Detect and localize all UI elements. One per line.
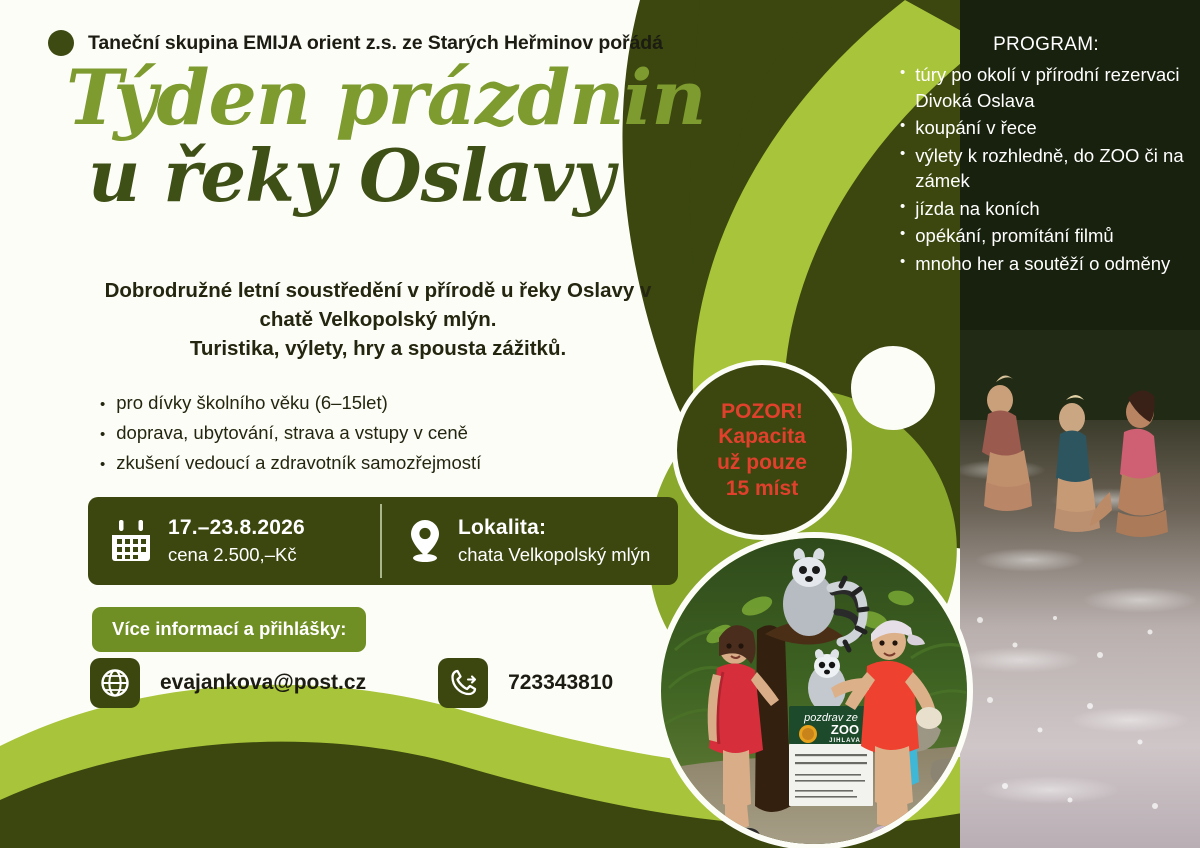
page-title: Týden prázdnin u řeky Oslavy (66, 62, 706, 211)
feature-text: pro dívky školního věku (6–15let) (116, 388, 387, 418)
badge-line-1: POZOR! (721, 399, 803, 425)
badge-line-4: 15 míst (726, 476, 798, 502)
capacity-badge: POZOR! Kapacita už pouze 15 míst (672, 360, 852, 540)
title-line-1: Týden prázdnin (66, 62, 706, 134)
list-item: • jízda na koních (900, 196, 1192, 222)
location-label: Lokalita: (458, 516, 650, 540)
zoo-jihlava-photo: pozdrav ze ZOO JIHLAVA (655, 532, 973, 848)
list-item: • túry po okolí v přírodní rezervaci Div… (900, 62, 1192, 113)
phone-value: 723343810 (508, 671, 613, 695)
list-item: • opékání, promítání filmů (900, 223, 1192, 249)
bullet-icon: • (900, 143, 905, 165)
email-value: evajankova@post.cz (160, 671, 366, 695)
description-line-2: chatě Velkopolský mlýn. (78, 305, 678, 334)
organizer-text: Taneční skupina EMIJA orient z.s. ze Sta… (88, 32, 663, 55)
calendar-icon (110, 519, 152, 563)
list-item: • zkušení vedoucí a zdravotník samozřejm… (100, 448, 481, 478)
phone-contact[interactable]: 723343810 (438, 658, 613, 708)
svg-text:ZOO: ZOO (831, 722, 859, 737)
globe-icon (90, 658, 140, 708)
bullet-icon: • (900, 115, 905, 137)
program-item-text: mnoho her a soutěží o odměny (915, 251, 1170, 277)
event-date: 17.–23.8.2026 (168, 516, 305, 540)
list-item: • koupání v řece (900, 115, 1192, 141)
description-block: Dobrodružné letní soustředění v přírodě … (78, 276, 678, 363)
feature-text: zkušení vedoucí a zdravotník samozřejmos… (116, 448, 481, 478)
bullet-icon: • (900, 223, 905, 245)
list-item: • výlety k rozhledně, do ZOO či na zámek (900, 143, 1192, 194)
feature-text: doprava, ubytování, strava a vstupy v ce… (116, 418, 468, 448)
description-line-1: Dobrodružné letní soustředění v přírodě … (78, 276, 678, 305)
date-cell: 17.–23.8.2026 cena 2.500,–Kč (88, 497, 380, 585)
map-pin-icon (408, 518, 442, 564)
badge-line-2: Kapacita (718, 424, 806, 450)
bullet-icon: • (900, 62, 905, 84)
badge-line-3: už pouze (717, 450, 807, 476)
svg-text:JIHLAVA: JIHLAVA (829, 738, 861, 744)
program-item-text: koupání v řece (915, 115, 1036, 141)
program-item-text: výlety k rozhledně, do ZOO či na zámek (915, 143, 1192, 194)
title-line-2: u řeky Oslavy (88, 142, 706, 210)
info-bar: 17.–23.8.2026 cena 2.500,–Kč Lokalita: c… (88, 497, 678, 585)
program-item-text: opékání, promítání filmů (915, 223, 1113, 249)
location-value: chata Velkopolský mlýn (458, 544, 650, 566)
phone-icon (438, 658, 488, 708)
more-info-button[interactable]: Více informací a přihlášky: (92, 607, 366, 652)
description-line-3: Turistika, výlety, hry a spousta zážitků… (78, 334, 678, 363)
email-contact[interactable]: evajankova@post.cz (90, 658, 366, 708)
features-list: • pro dívky školního věku (6–15let) • do… (100, 388, 481, 478)
program-panel: PROGRAM: • túry po okolí v přírodní reze… (900, 34, 1192, 278)
program-item-text: túry po okolí v přírodní rezervaci Divok… (915, 62, 1192, 113)
program-title: PROGRAM: (900, 34, 1192, 56)
bullet-icon: • (900, 196, 905, 218)
location-cell: Lokalita: chata Velkopolský mlýn (382, 497, 678, 585)
bullet-icon: • (100, 457, 105, 472)
program-item-text: jízda na koních (915, 196, 1039, 222)
bullet-icon: • (100, 427, 105, 442)
contacts-row: evajankova@post.cz 723343810 (90, 658, 613, 708)
bullet-icon: • (100, 397, 105, 412)
program-list: • túry po okolí v přírodní rezervaci Div… (900, 62, 1192, 276)
list-item: • pro dívky školního věku (6–15let) (100, 388, 481, 418)
bullet-icon: • (900, 251, 905, 273)
event-price: cena 2.500,–Kč (168, 544, 305, 566)
divider (380, 504, 382, 578)
list-item: • mnoho her a soutěží o odměny (900, 251, 1192, 277)
poster-canvas: pozdrav ze ZOO JIHLAVA (0, 0, 1200, 848)
list-item: • doprava, ubytování, strava a vstupy v … (100, 418, 481, 448)
